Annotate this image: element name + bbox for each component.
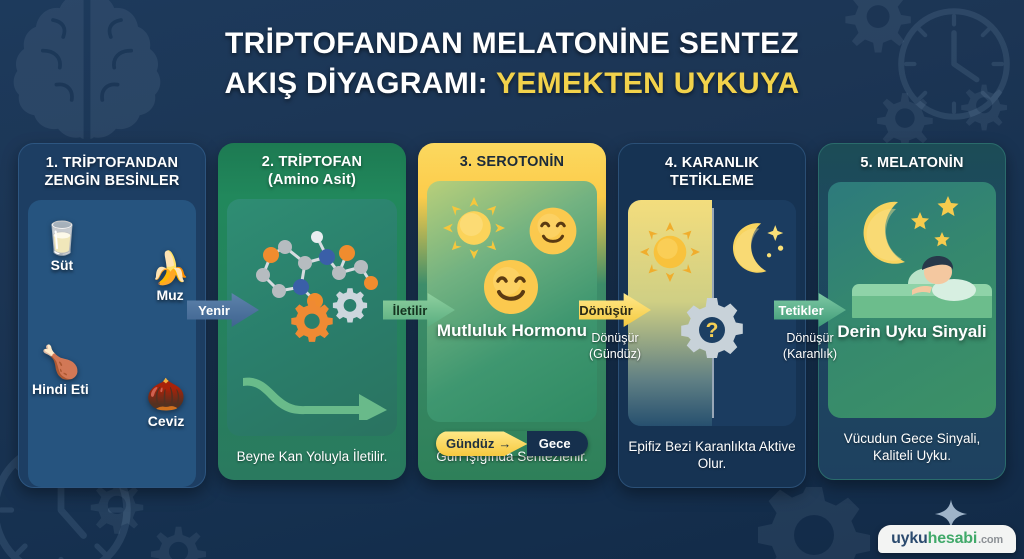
card-footer-4: Epifiz Bezi Karanlıkta Aktive Olur. — [619, 426, 805, 487]
connector-arrow-4: Tetikler — [774, 293, 846, 327]
food-label-2: Hindi Eti — [32, 381, 89, 397]
stars-icon — [904, 192, 972, 248]
card-header-4-line1: 4. KARANLIK — [627, 155, 797, 173]
title-highlight: YEMEKTEN UYKUYA — [496, 67, 799, 100]
badge-arrow-icon: → — [498, 436, 511, 451]
connector-arrow-3: Dönüşür — [579, 293, 651, 327]
gear-white-icon — [331, 287, 369, 325]
banana-icon: 🍌 — [150, 252, 190, 284]
connector-tetikler-karanlik: Tetikler Dönüşür (Karanlık) — [773, 293, 847, 362]
card-header-5: 5. MELATONİN — [819, 144, 1005, 182]
card-body-1: 🥛 Süt 🍌 Muz 🍗 Hindi Eti 🌰 Ceviz — [28, 200, 196, 487]
logo-part-com: .com — [978, 534, 1003, 546]
turkey-meat-icon: 🍗 — [32, 346, 89, 378]
title-line-1: TRİPTOFANDAN MELATONİNE SENTEZ — [0, 24, 1024, 64]
food-label-3: Ceviz — [146, 413, 186, 429]
sun-icon — [640, 222, 700, 282]
connector-arrow-2: İletilir — [383, 293, 455, 327]
card-body-4: ? — [628, 200, 796, 426]
food-item-milk: 🥛 Süt — [42, 222, 82, 273]
card-header-3: 3. SEROTONİN — [418, 143, 606, 181]
card-header-2-line1: 2. TRİPTOFAN — [226, 154, 398, 172]
badge-night: Gece — [527, 431, 588, 456]
flow-arrow-icon — [239, 368, 391, 420]
connector-arrow-1: Yenir — [187, 293, 259, 327]
milk-glass-icon: 🥛 — [42, 222, 82, 254]
connector-donusur-gunduz: Dönüşür Dönüşür (Gündüz) — [578, 293, 652, 362]
title-line-2-prefix: AKIŞ DİYAGRAMI: — [225, 67, 497, 100]
badge-day: Gündüz → — [436, 431, 527, 456]
connector-sublabel-3: Dönüşür (Gündüz) — [578, 331, 652, 362]
card-header-4-line2: TETİKLEME — [627, 173, 797, 191]
badge-day-label: Gündüz — [446, 436, 494, 451]
card-body-5: Derin Uyku Sinyali — [828, 182, 996, 418]
walnut-icon: 🌰 — [146, 378, 186, 410]
food-item-walnut: 🌰 Ceviz — [146, 378, 186, 429]
food-label-1: Muz — [150, 287, 190, 303]
card-header-1: 1. TRİPTOFANDAN ZENGİN BESİNLER — [19, 144, 205, 200]
card-footer-5: Vücudun Gece Sinyali, Kaliteli Uyku. — [819, 418, 1005, 479]
logo-part-uyku: uyku — [891, 530, 928, 548]
card-footer-2: Beyne Kan Yoluyla İletilir. — [218, 436, 406, 480]
infographic-canvas: TRİPTOFANDAN MELATONİNE SENTEZ AKIŞ DİYA… — [0, 0, 1024, 559]
page-title: TRİPTOFANDAN MELATONİNE SENTEZ AKIŞ DİYA… — [0, 24, 1024, 103]
smiley-face-icon — [527, 205, 579, 257]
food-item-turkey: 🍗 Hindi Eti — [32, 346, 89, 397]
site-logo[interactable]: uykuhesabi.com — [878, 499, 1016, 553]
title-line-2: AKIŞ DİYAGRAMI: YEMEKTEN UYKUYA — [0, 64, 1024, 104]
connector-yenir: Yenir — [186, 293, 260, 331]
connector-sublabel-4: Dönüşür (Karanlık) — [773, 331, 847, 362]
sun-icon — [443, 197, 505, 259]
card-header-4: 4. KARANLIK TETİKLEME — [619, 144, 805, 200]
flow-steps-row: 1. TRİPTOFANDAN ZENGİN BESİNLER 🥛 Süt 🍌 … — [18, 143, 1006, 493]
logo-part-hesabi: hesabi — [928, 530, 978, 548]
food-label-0: Süt — [42, 257, 82, 273]
sleeping-person-icon — [850, 256, 994, 318]
svg-text:?: ? — [706, 319, 719, 342]
card-header-2: 2. TRİPTOFAN (Amino Asit) — [218, 143, 406, 199]
moon-stars-icon — [722, 218, 786, 280]
logo-wordmark: uykuhesabi.com — [878, 525, 1016, 553]
gear-orange-icon — [289, 299, 335, 345]
smiley-face-icon — [481, 257, 541, 317]
melatonin-body-label: Derin Uyku Sinyali — [828, 322, 996, 342]
day-night-badge: Gündüz → Gece — [436, 431, 588, 456]
food-item-banana: 🍌 Muz — [150, 252, 190, 303]
card-header-2-line2: (Amino Asit) — [226, 172, 398, 190]
gear-question-icon: ? — [680, 296, 744, 360]
connector-iletilir: İletilir — [382, 293, 456, 331]
step-card-triptofandan-zengin-besinler[interactable]: 1. TRİPTOFANDAN ZENGİN BESİNLER 🥛 Süt 🍌 … — [18, 143, 206, 488]
